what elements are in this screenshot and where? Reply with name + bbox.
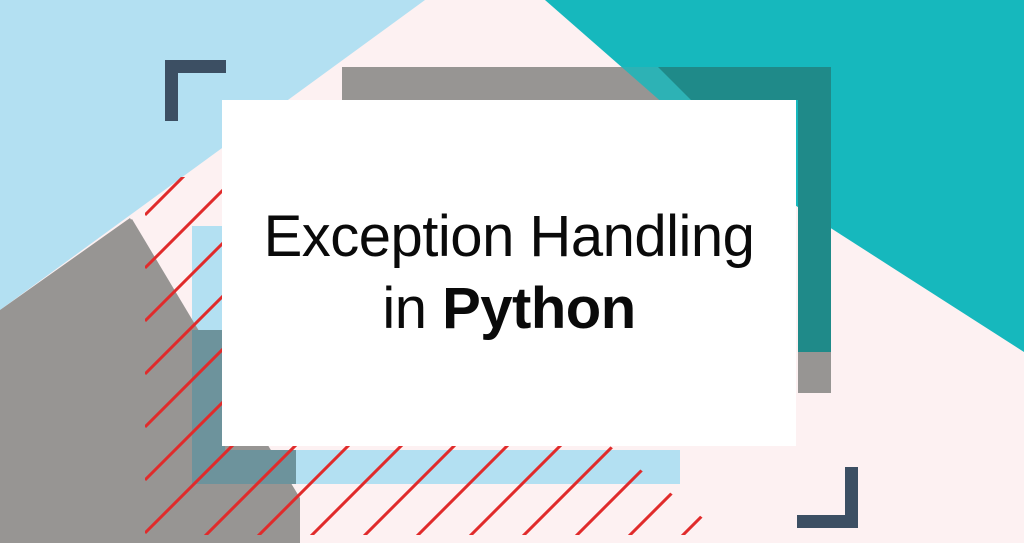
slide-canvas: Exception Handling in Python [0,0,1024,543]
title-line-2-strong: Python [442,276,636,341]
teal-frame-shadow-right [798,100,831,352]
title-line-1: Exception Handling [264,201,755,273]
title-card: Exception Handling in Python [222,100,796,446]
title-line-2: in Python [382,273,635,345]
title-line-2-prefix: in [382,276,442,341]
